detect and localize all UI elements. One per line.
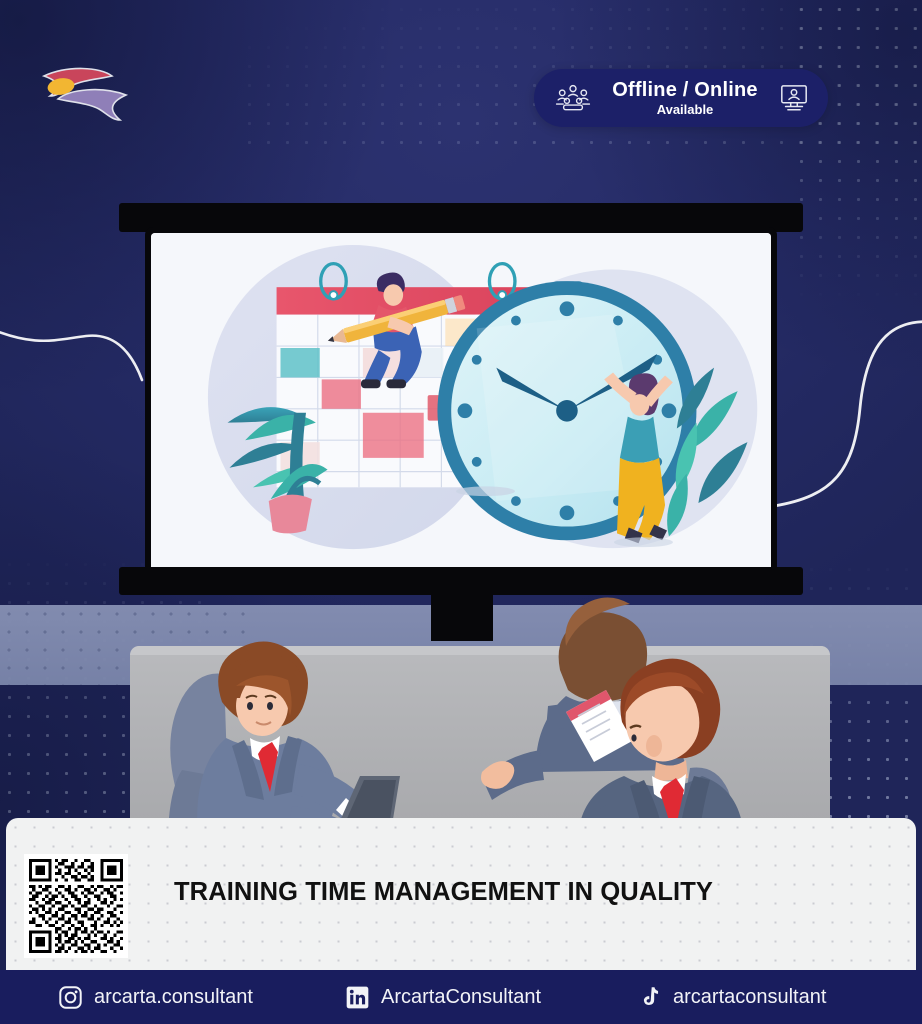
poster-canvas: Offline / Online Available	[0, 0, 922, 1024]
badge-text-block: Offline / Online Available	[592, 80, 778, 116]
arcarta-logo-icon[interactable]	[38, 62, 130, 134]
training-room-illustration	[0, 150, 922, 820]
linkedin-handle-label: ArcartaConsultant	[381, 986, 541, 1009]
instagram-icon	[58, 985, 83, 1010]
instagram-handle[interactable]: arcarta.consultant	[58, 985, 253, 1010]
attendees-group	[0, 150, 922, 820]
group-meeting-icon	[554, 83, 592, 113]
tiktok-handle-label: arcartaconsultant	[673, 986, 826, 1009]
footer-panel: TRAINING TIME MANAGEMENT IN QUALITY	[6, 818, 916, 970]
linkedin-handle[interactable]: ArcartaConsultant	[345, 985, 541, 1010]
tiktok-handle[interactable]: arcartaconsultant	[637, 985, 826, 1010]
video-conference-monitor-icon	[778, 83, 810, 113]
instagram-handle-label: arcarta.consultant	[94, 986, 253, 1009]
badge-sub-label: Available	[592, 103, 778, 116]
social-bar: arcarta.consultant ArcartaConsultant arc…	[0, 970, 922, 1024]
tiktok-icon	[637, 985, 662, 1010]
attendee-woman-with-laptop	[168, 641, 382, 820]
badge-main-label: Offline / Online	[592, 80, 778, 100]
page-title: TRAINING TIME MANAGEMENT IN QUALITY	[174, 878, 713, 907]
qr-code[interactable]	[24, 854, 128, 958]
qr-code-icon	[29, 859, 123, 953]
linkedin-icon	[345, 985, 370, 1010]
offline-online-available-badge[interactable]: Offline / Online Available	[534, 69, 828, 127]
